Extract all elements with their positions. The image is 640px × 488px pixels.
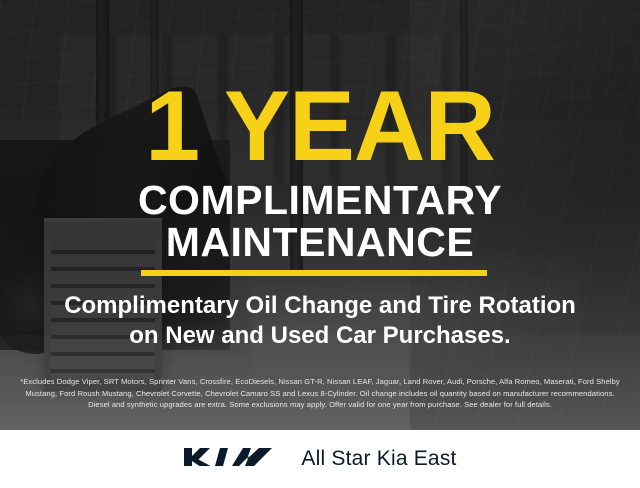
dealer-name: All Star Kia East (301, 447, 456, 471)
promo-banner: 1 YEAR COMPLIMENTARY MAINTENANCE Complim… (0, 0, 640, 488)
headline-year: 1 YEAR (0, 76, 640, 175)
footer-bar: All Star Kia East (0, 430, 640, 488)
banner-content: 1 YEAR COMPLIMENTARY MAINTENANCE Complim… (0, 0, 640, 430)
headline-maintenance: MAINTENANCE (0, 222, 640, 263)
disclaimer-text: *Excludes Dodge Viper, SRT Motors, Sprin… (14, 376, 626, 411)
headline-complimentary: COMPLIMENTARY (0, 180, 640, 221)
offer-description-line-2: on New and Used Car Purchases. (0, 322, 640, 350)
yellow-divider-rule (141, 270, 487, 276)
offer-description-line-1: Complimentary Oil Change and Tire Rotati… (0, 292, 640, 320)
kia-logo (183, 444, 275, 475)
